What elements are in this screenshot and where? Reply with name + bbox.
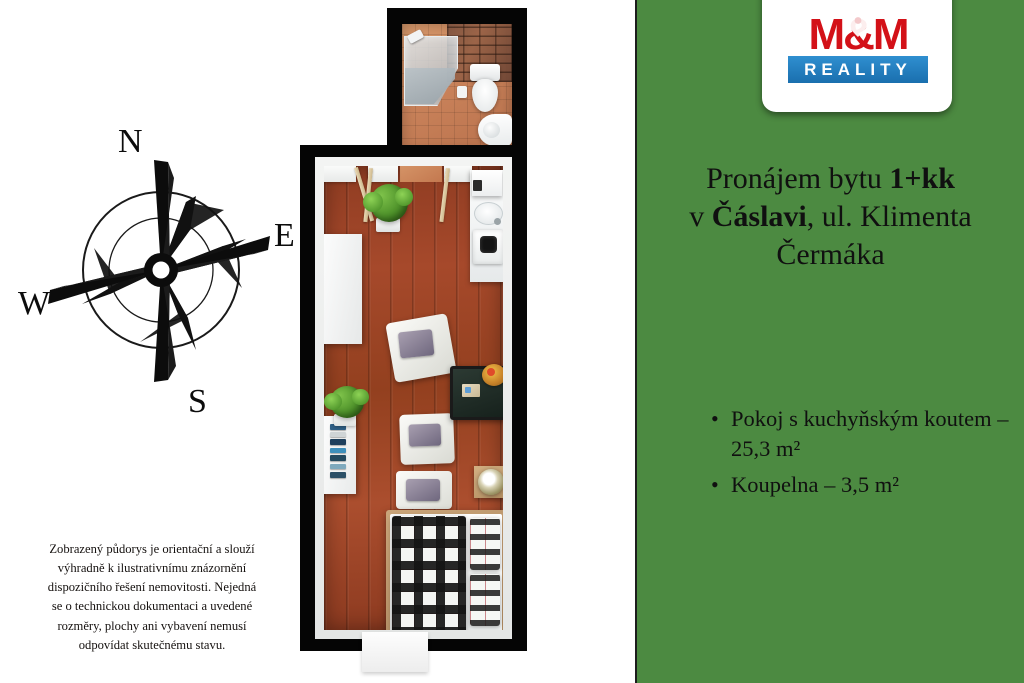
company-logo[interactable]: M&M REALITY xyxy=(762,0,952,112)
right-panel: M&M REALITY Pronájem bytu 1+kk v Čáslavi… xyxy=(637,0,1024,683)
left-panel: N E S W xyxy=(0,0,635,683)
kitchen-faucet xyxy=(494,218,501,225)
logo-reality-text: REALITY xyxy=(788,56,928,83)
bed-pillow xyxy=(470,574,500,626)
main-room-interior xyxy=(315,157,512,639)
title-part-3: , ul. Klimenta xyxy=(807,200,972,233)
compass-label-north: N xyxy=(118,123,143,160)
book xyxy=(330,472,346,478)
cushion xyxy=(398,329,435,358)
title-bold-1: 1+kk xyxy=(889,162,954,195)
compass-label-west: W xyxy=(18,285,51,322)
book xyxy=(330,448,346,453)
title-part-2: v xyxy=(689,200,712,233)
door-frame-1 xyxy=(324,166,356,182)
book xyxy=(330,464,346,469)
disclaimer-line: se o technickou dokumentaci a uvedené xyxy=(12,597,292,616)
bathroom-fixture xyxy=(457,86,467,98)
kitchen-hob xyxy=(480,236,497,253)
bathroom-sink xyxy=(478,114,512,146)
list-item: Koupelna – 3,5 m² xyxy=(731,470,1009,500)
disclaimer-line: odpovídat skutečnému stavu. xyxy=(12,636,292,655)
book xyxy=(330,432,346,437)
page-title: Pronájem bytu 1+kk v Čáslavi, ul. Klimen… xyxy=(649,160,1012,273)
book xyxy=(330,439,346,445)
disclaimer-line: dispozičního řešení nemovitosti. Nejedná xyxy=(12,578,292,597)
disclaimer-text: Zobrazený půdorys je orientační a slouží… xyxy=(12,540,292,655)
bed-pillow xyxy=(470,518,500,570)
title-bold-2: Čáslavi xyxy=(712,200,807,233)
wood-floor xyxy=(324,166,503,630)
logo-reality-bar: REALITY xyxy=(788,56,928,83)
toilet-bowl xyxy=(472,79,498,112)
potted-plant xyxy=(370,184,408,222)
hallway-tile-floor xyxy=(400,166,442,182)
cushion xyxy=(408,424,441,447)
compass-label-south: S xyxy=(188,383,207,418)
disclaimer-line: rozměry, plochy ani vybavení nemusí xyxy=(12,617,292,636)
kitchen-control-panel xyxy=(473,180,482,191)
compass-rose-icon: N E S W xyxy=(18,118,298,418)
bed-duvet xyxy=(392,516,466,630)
wardrobe xyxy=(324,234,362,344)
book xyxy=(330,455,346,461)
listing-graphic: N E S W xyxy=(0,0,1024,683)
floor-plan xyxy=(286,0,536,683)
room-list: Pokoj s kuchyňským koutem – 25,3 m² Koup… xyxy=(709,404,1009,505)
cushion xyxy=(406,479,440,501)
potted-plant xyxy=(330,386,364,418)
logo-inner: M&M REALITY xyxy=(762,0,952,112)
disclaimer-line: Zobrazený půdorys je orientační a slouží xyxy=(12,540,292,559)
table-lamp xyxy=(478,469,503,495)
bathroom-floor xyxy=(402,24,512,152)
armchair xyxy=(385,313,456,383)
fruit-bowl xyxy=(482,364,503,386)
table-book xyxy=(462,384,480,397)
bench-seat xyxy=(396,471,452,509)
armchair xyxy=(399,413,455,465)
disclaimer-line: výhradně k ilustrativnímu znázornění xyxy=(12,559,292,578)
list-item: Pokoj s kuchyňským koutem – 25,3 m² xyxy=(731,404,1009,465)
title-part-4: Čermáka xyxy=(776,238,884,271)
title-part-1: Pronájem bytu xyxy=(706,162,889,195)
shower-tray xyxy=(405,68,455,104)
heart-pin-icon xyxy=(846,12,870,38)
window-sill xyxy=(362,632,428,672)
